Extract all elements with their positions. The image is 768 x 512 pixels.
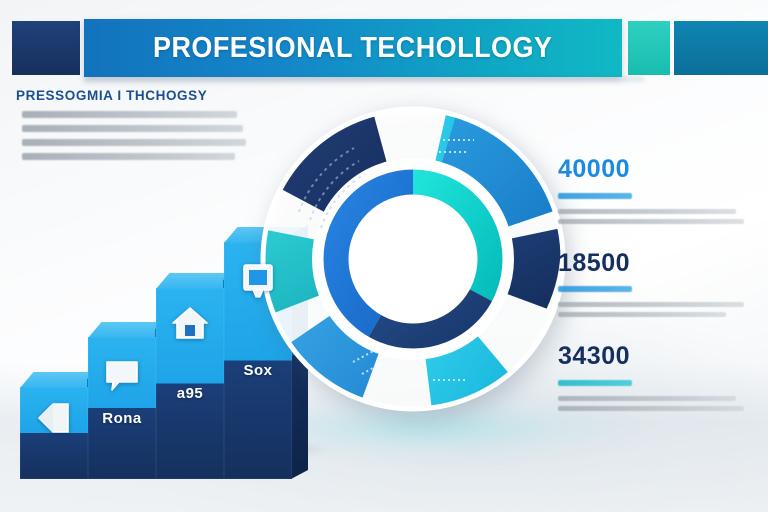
stats-panel: 40000 18500 34300 — [558, 156, 758, 437]
banner-accent-block — [628, 21, 670, 75]
donut-inner-ring — [320, 167, 505, 352]
bar-item-2[interactable]: Rona — [88, 337, 156, 479]
house-icon — [170, 306, 210, 345]
stat-lead-3 — [558, 380, 632, 386]
bar-item-1[interactable] — [20, 387, 88, 479]
stat-value-2: 18500 — [558, 250, 758, 278]
stat-lead-1 — [558, 193, 632, 199]
stat-lead-2 — [558, 286, 632, 292]
banner-tail-block — [674, 21, 768, 75]
stat-body-line — [558, 219, 744, 224]
infographic-slide: PROFESIONAL TECHOLLOGY PRESSOGMIA I THCH… — [0, 0, 768, 512]
stat-value-3: 34300 — [558, 343, 758, 371]
monitor-icon — [238, 262, 278, 305]
donut-chart[interactable] — [258, 104, 568, 414]
bar-label-4: Sox — [243, 362, 272, 379]
stat-item-1[interactable]: 40000 — [558, 156, 758, 224]
stat-body-line — [558, 302, 744, 307]
stat-body-line — [558, 406, 744, 411]
stat-body-line — [558, 312, 726, 317]
bar-item-3[interactable]: a95 — [156, 288, 224, 479]
stat-body-line — [558, 209, 736, 214]
bar-chart: Rona a95 — [0, 0, 300, 512]
bar-label-3: a95 — [177, 385, 204, 402]
stat-value-1: 40000 — [558, 156, 758, 184]
bar-label-2: Rona — [102, 410, 142, 427]
stat-item-2[interactable]: 18500 — [558, 250, 758, 318]
stat-item-3[interactable]: 34300 — [558, 343, 758, 411]
play-arrow-icon — [37, 403, 71, 438]
speech-bubble-icon — [103, 359, 141, 398]
stat-body-line — [558, 396, 736, 401]
